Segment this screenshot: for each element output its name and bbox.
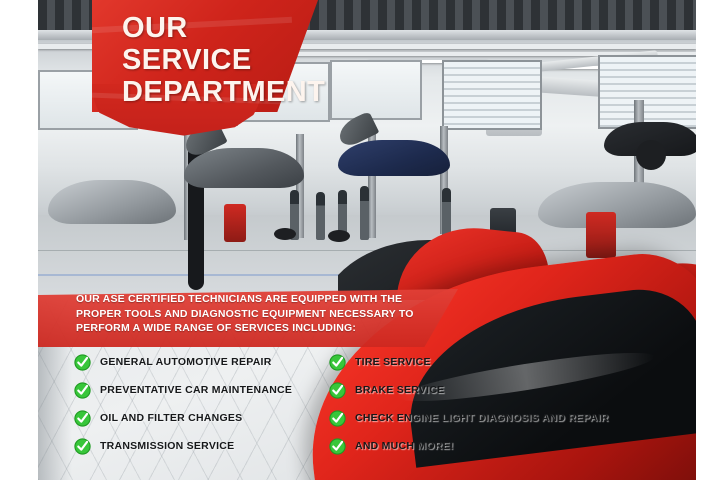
list-item: OIL AND FILTER CHANGES bbox=[74, 404, 324, 432]
check-circle-icon bbox=[329, 410, 346, 427]
service-label: TIRE SERVICE bbox=[355, 356, 431, 368]
description-line-2: PROPER TOOLS AND DIAGNOSTIC EQUIPMENT NE… bbox=[76, 307, 456, 322]
parked-car bbox=[48, 180, 176, 224]
list-item: TRANSMISSION SERVICE bbox=[74, 432, 324, 460]
check-circle-icon bbox=[74, 410, 91, 427]
tool-cart bbox=[224, 204, 246, 242]
technician bbox=[316, 192, 325, 240]
service-label: TRANSMISSION SERVICE bbox=[100, 440, 234, 452]
check-circle-icon bbox=[74, 438, 91, 455]
check-circle-icon bbox=[329, 354, 346, 371]
check-circle-icon bbox=[74, 354, 91, 371]
service-label: BRAKE SERVICE bbox=[355, 384, 444, 396]
check-circle-icon bbox=[74, 382, 91, 399]
title-line-2: DEPARTMENT bbox=[122, 76, 322, 108]
service-label: PREVENTATIVE CAR MAINTENANCE bbox=[100, 384, 292, 396]
services-column-right: TIRE SERVICE BRAKE SERVICE CHECK ENGINE … bbox=[329, 348, 674, 460]
description-line-1: OUR ASE CERTIFIED TECHNICIANS ARE EQUIPP… bbox=[76, 292, 456, 307]
page-title: OUR SERVICE DEPARTMENT bbox=[122, 12, 322, 108]
list-item: BRAKE SERVICE bbox=[329, 376, 674, 404]
title-line-1: OUR SERVICE bbox=[122, 12, 322, 76]
check-circle-icon bbox=[329, 382, 346, 399]
services-column-left: GENERAL AUTOMOTIVE REPAIR PREVENTATIVE C… bbox=[74, 348, 324, 460]
service-label: GENERAL AUTOMOTIVE REPAIR bbox=[100, 356, 272, 368]
list-item: TIRE SERVICE bbox=[329, 348, 674, 376]
service-label: CHECK ENGINE LIGHT DIAGNOSIS AND REPAIR bbox=[355, 412, 609, 424]
check-circle-icon bbox=[329, 438, 346, 455]
description-text: OUR ASE CERTIFIED TECHNICIANS ARE EQUIPP… bbox=[76, 292, 456, 336]
list-item: PREVENTATIVE CAR MAINTENANCE bbox=[74, 376, 324, 404]
list-item: CHECK ENGINE LIGHT DIAGNOSIS AND REPAIR bbox=[329, 404, 674, 432]
workshop-window bbox=[330, 60, 422, 120]
tire-on-floor bbox=[274, 228, 296, 240]
list-item: GENERAL AUTOMOTIVE REPAIR bbox=[74, 348, 324, 376]
garage-door-window bbox=[598, 55, 696, 129]
service-department-poster: OUR SERVICE DEPARTMENT OUR ASE CERTIFIED… bbox=[0, 0, 720, 480]
service-label: OIL AND FILTER CHANGES bbox=[100, 412, 242, 424]
description-line-3: PERFORM A WIDE RANGE OF SERVICES INCLUDI… bbox=[76, 321, 456, 336]
list-item: AND MUCH MORE! bbox=[329, 432, 674, 460]
service-label: AND MUCH MORE! bbox=[355, 440, 454, 452]
